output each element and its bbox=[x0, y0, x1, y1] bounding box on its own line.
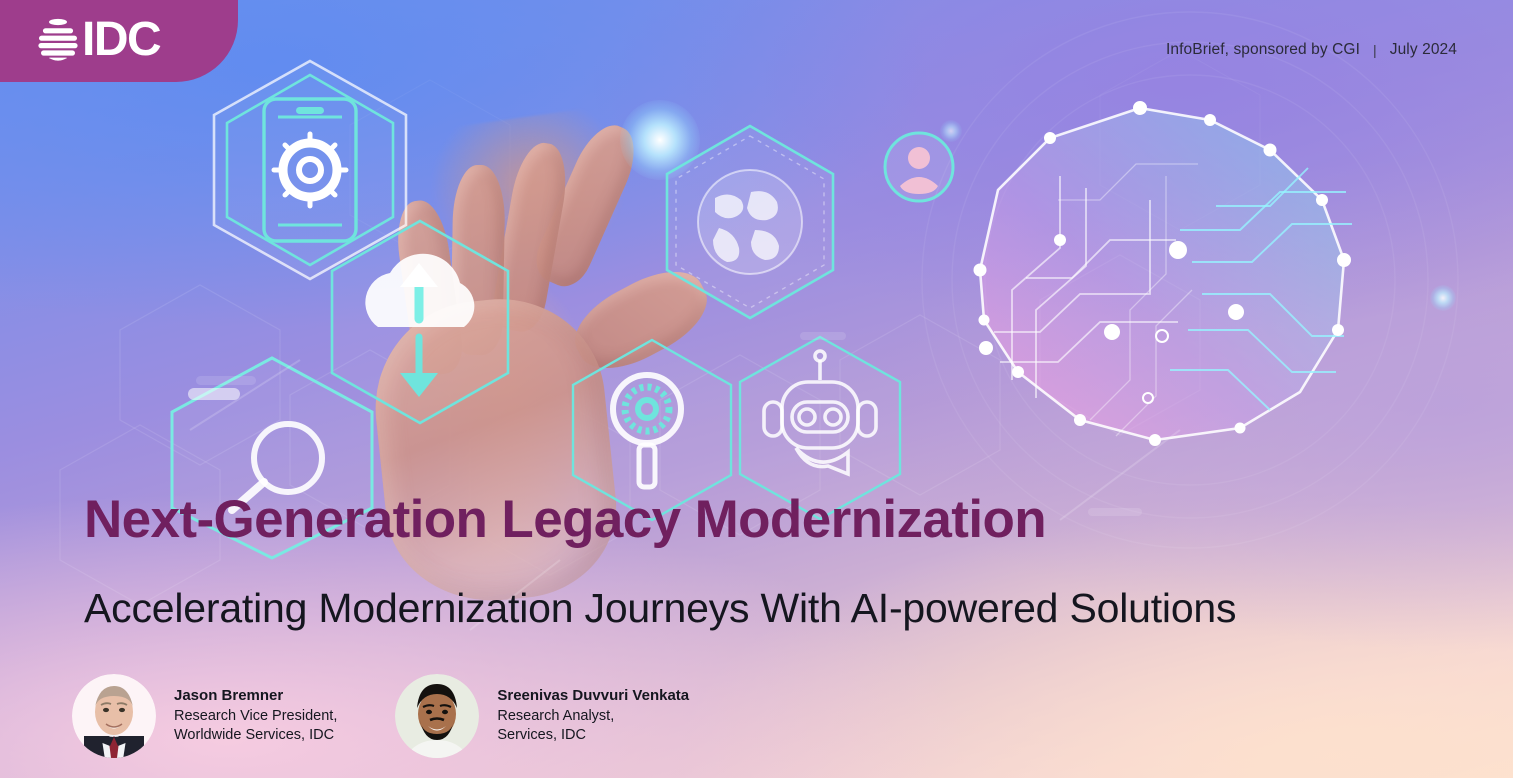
idc-globe-icon bbox=[36, 16, 80, 64]
infobrief-cover-page: IDC InfoBrief, sponsored by CGI | July 2… bbox=[0, 0, 1513, 778]
finger bbox=[450, 165, 505, 356]
avatar-jason-bremner bbox=[72, 674, 156, 758]
hero-artwork bbox=[0, 0, 1513, 778]
document-meta: InfoBrief, sponsored by CGI | July 2024 bbox=[1166, 41, 1457, 59]
avatar bbox=[72, 674, 156, 758]
author-role-line2: Worldwide Services, IDC bbox=[174, 726, 337, 745]
thumb bbox=[562, 255, 719, 384]
author-entry: Jason Bremner Research Vice President, W… bbox=[72, 674, 337, 758]
avatar bbox=[395, 674, 479, 758]
author-name: Jason Bremner bbox=[174, 686, 337, 706]
page-title: Next-Generation Legacy Modernization bbox=[84, 492, 1046, 548]
mobile-gear-icon bbox=[200, 55, 420, 285]
globe-icon bbox=[655, 120, 845, 325]
sponsor-label: InfoBrief, sponsored by CGI bbox=[1166, 41, 1360, 59]
particle-glow bbox=[940, 120, 962, 142]
author-role-line2: Services, IDC bbox=[497, 726, 689, 745]
fingertip-glow bbox=[620, 100, 700, 180]
author-role-line1: Research Analyst, bbox=[497, 707, 689, 726]
background-hex-grid bbox=[0, 0, 1513, 778]
light-streaks bbox=[0, 0, 1513, 778]
author-text: Sreenivas Duvvuri Venkata Research Analy… bbox=[497, 686, 689, 746]
palm bbox=[365, 289, 625, 611]
avatar-sreenivas-duvvuri-venkata bbox=[395, 674, 479, 758]
author-entry: Sreenivas Duvvuri Venkata Research Analy… bbox=[395, 674, 689, 758]
author-name: Sreenivas Duvvuri Venkata bbox=[497, 686, 689, 706]
ai-brain-circuit-icon bbox=[940, 80, 1410, 470]
finger bbox=[392, 197, 466, 377]
cloud-sync-icon bbox=[320, 215, 520, 430]
author-list: Jason Bremner Research Vice President, W… bbox=[72, 674, 689, 758]
finger bbox=[489, 139, 573, 335]
page-subtitle: Accelerating Modernization Journeys With… bbox=[84, 586, 1236, 631]
idc-logo-text: IDC bbox=[82, 16, 160, 64]
finger bbox=[528, 116, 646, 293]
publication-date: July 2024 bbox=[1390, 41, 1457, 59]
meta-separator: | bbox=[1373, 42, 1377, 58]
idc-logo[interactable]: IDC bbox=[36, 16, 160, 64]
user-circle-icon bbox=[880, 128, 958, 206]
author-role-line1: Research Vice President, bbox=[174, 707, 337, 726]
particle-glow bbox=[1430, 285, 1456, 311]
author-text: Jason Bremner Research Vice President, W… bbox=[174, 686, 337, 746]
